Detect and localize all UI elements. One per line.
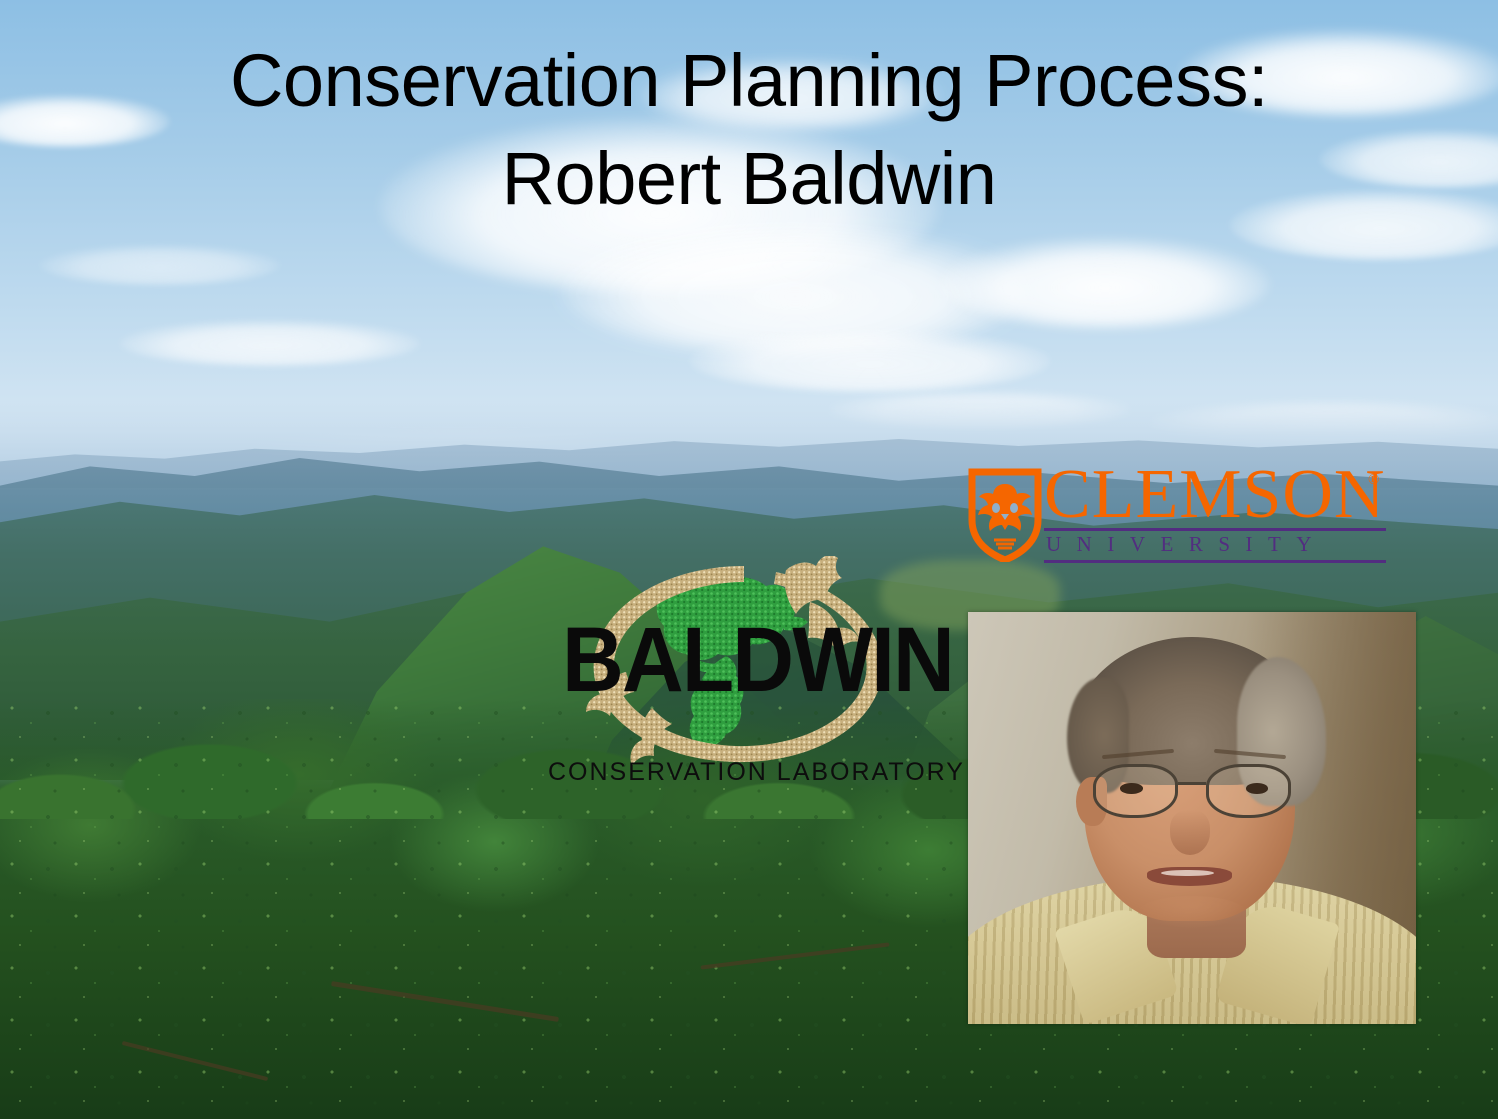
chin [1138, 896, 1246, 929]
clemson-wordmark: CLEMSON [1044, 460, 1385, 530]
nose [1170, 810, 1210, 855]
clemson-university-logo: CLEMSON ® UNIVERSITY [968, 466, 1398, 566]
clemson-university-subtitle: UNIVERSITY [1046, 532, 1386, 557]
logo-rule-top [1044, 528, 1386, 531]
speaker-portrait-photo [968, 612, 1416, 1024]
eye-left [1120, 783, 1142, 794]
eyeglass-bridge [1178, 782, 1206, 785]
baldwin-lab-subtitle: CONSERVATION LABORATORY [548, 758, 948, 787]
registered-trademark-icon: ® [1368, 472, 1379, 489]
cloud-shape [40, 245, 280, 285]
cloud-shape [690, 330, 1050, 392]
baldwin-wordmark: BALDWIN [562, 614, 934, 706]
baldwin-conservation-laboratory-logo: BALDWIN CONSERVATION LABORATORY [548, 556, 948, 806]
slide-title: Conservation Planning Process: Robert Ba… [0, 32, 1498, 229]
cloud-shape [120, 320, 420, 366]
cloud-shape [940, 238, 1270, 328]
presentation-slide: Conservation Planning Process: Robert Ba… [0, 0, 1498, 1119]
logo-rule-bottom [1044, 560, 1386, 563]
tiger-head-shield-icon [968, 468, 1042, 562]
eye-right [1246, 783, 1268, 794]
